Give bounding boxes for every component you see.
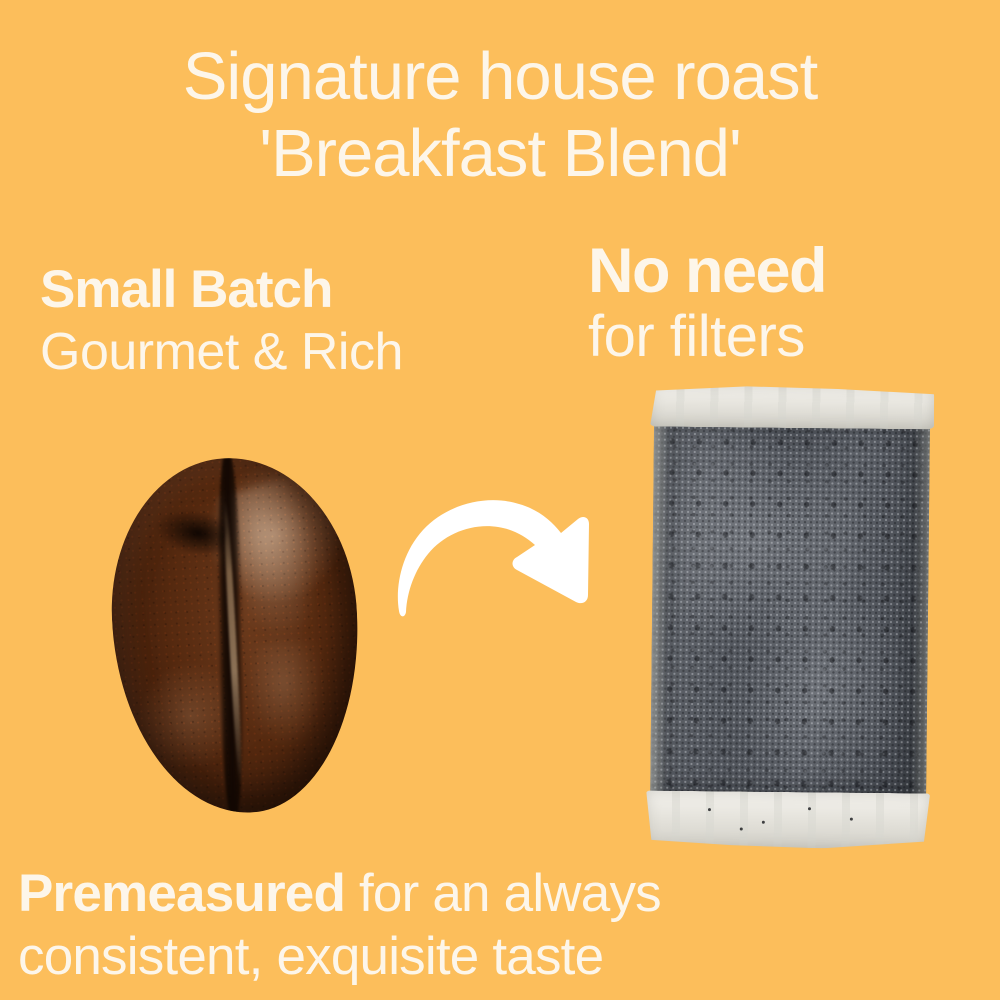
feature-bottom-bold: Premeasured <box>18 864 345 923</box>
pouch-bottom-seal <box>646 791 931 850</box>
coffee-bean-body <box>104 452 367 819</box>
curved-arrow-icon <box>395 492 605 617</box>
pouch-mesh-body <box>650 417 930 806</box>
product-infographic: Signature house roast 'Breakfast Blend' … <box>0 0 1000 1000</box>
feature-right-light: for filters <box>588 304 826 370</box>
feature-left-light: Gourmet & Rich <box>40 321 403 384</box>
feature-left: Small Batch Gourmet & Rich <box>40 258 403 384</box>
coffee-bean-highlight-lower <box>248 638 327 748</box>
page-title: Signature house roast 'Breakfast Blend' <box>0 38 1000 192</box>
feature-right: No need for filters <box>588 238 826 370</box>
coffee-filter-pouch-image <box>646 385 935 850</box>
feature-left-bold: Small Batch <box>40 258 403 321</box>
coffee-bean-image <box>104 452 367 819</box>
pouch-top-seal <box>650 385 934 430</box>
feature-bottom-light: for an always <box>345 864 661 923</box>
feature-right-bold: No need <box>588 238 826 304</box>
feature-bottom: Premeasured for an always consistent, ex… <box>18 862 661 988</box>
feature-bottom-line-1: Premeasured for an always <box>18 862 661 925</box>
headline-line-1: Signature house roast <box>0 38 1000 115</box>
headline-line-2: 'Breakfast Blend' <box>0 115 1000 192</box>
feature-bottom-line-2: consistent, exquisite taste <box>18 925 661 988</box>
